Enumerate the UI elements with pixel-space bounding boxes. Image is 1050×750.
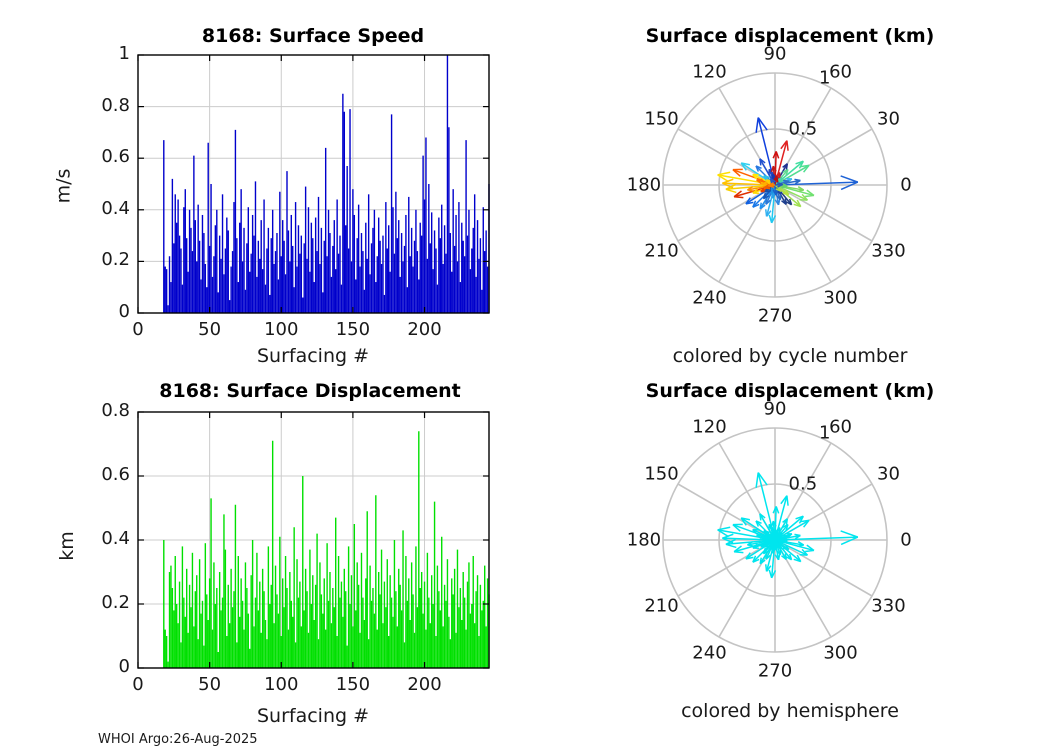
polar-angle-label: 90: [764, 43, 787, 64]
polar-radius-label: 0.5: [789, 119, 818, 140]
figure-footer: WHOI Argo:26-Aug-2025: [98, 732, 258, 747]
polar-angle-label: 180: [627, 175, 661, 196]
x-tick-label: 150: [318, 319, 388, 340]
y-tick-label: 0.2: [56, 592, 130, 613]
y-tick-label: 0.6: [56, 146, 130, 167]
panel-surface-displacement: 8168: Surface Displacement km Surfacing …: [0, 355, 520, 750]
polar-angle-label: 300: [823, 643, 857, 664]
x-tick-label: 50: [175, 319, 245, 340]
polar-angle-label: 60: [829, 416, 852, 437]
polar-angle-label: 300: [823, 288, 857, 309]
displacement-x-axis-label: Surfacing #: [138, 705, 488, 727]
x-tick-label: 50: [175, 674, 245, 695]
polar-cycle-plot: [530, 0, 1050, 330]
polar-angle-label: 270: [758, 661, 792, 682]
polar-angle-label: 60: [829, 61, 852, 82]
polar-angle-label: 0: [900, 530, 911, 551]
y-tick-label: 0.8: [56, 95, 130, 116]
polar-angle-label: 120: [692, 61, 726, 82]
panel-polar-cycle: Surface displacement (km) 03060901201501…: [530, 0, 1050, 370]
bar-series: [164, 431, 489, 668]
y-tick-label: 0.8: [56, 400, 130, 421]
y-tick-label: 0.6: [56, 464, 130, 485]
polar-angle-label: 30: [877, 109, 900, 130]
polar-angle-label: 240: [692, 643, 726, 664]
panel-surface-speed: 8168: Surface Speed m/s Surfacing # 00.2…: [0, 0, 520, 370]
y-tick-label: 0.2: [56, 249, 130, 270]
x-tick-label: 0: [103, 319, 173, 340]
polar-hemisphere-plot: [530, 355, 1050, 685]
x-tick-label: 200: [390, 319, 460, 340]
polar-angle-label: 150: [644, 109, 678, 130]
panel-polar-hemisphere: Surface displacement (km) 03060901201501…: [530, 355, 1050, 750]
polar-angle-label: 240: [692, 288, 726, 309]
y-tick-label: 0.4: [56, 198, 130, 219]
y-tick-label: 1: [56, 43, 130, 64]
polar-angle-label: 0: [900, 175, 911, 196]
polar-radius-label: 0.5: [789, 474, 818, 495]
polar-radius-label: 1: [819, 422, 830, 443]
y-tick-label: 0.4: [56, 528, 130, 549]
bar-series: [164, 55, 489, 313]
argo-float-figure: 8168: Surface Speed m/s Surfacing # 00.2…: [0, 0, 1050, 750]
x-tick-label: 0: [103, 674, 173, 695]
polar-angle-label: 150: [644, 464, 678, 485]
polar-angle-label: 210: [644, 240, 678, 261]
polar-hemisphere-caption: colored by hemisphere: [590, 700, 990, 722]
polar-angle-label: 330: [871, 595, 905, 616]
polar-angle-label: 330: [871, 240, 905, 261]
polar-angle-label: 270: [758, 306, 792, 327]
x-tick-label: 100: [246, 319, 316, 340]
polar-angle-label: 120: [692, 416, 726, 437]
polar-angle-label: 180: [627, 530, 661, 551]
x-tick-label: 150: [318, 674, 388, 695]
polar-radius-label: 1: [819, 67, 830, 88]
x-tick-label: 200: [390, 674, 460, 695]
polar-angle-label: 30: [877, 464, 900, 485]
x-tick-label: 100: [246, 674, 316, 695]
polar-angle-label: 90: [764, 398, 787, 419]
polar-angle-label: 210: [644, 595, 678, 616]
